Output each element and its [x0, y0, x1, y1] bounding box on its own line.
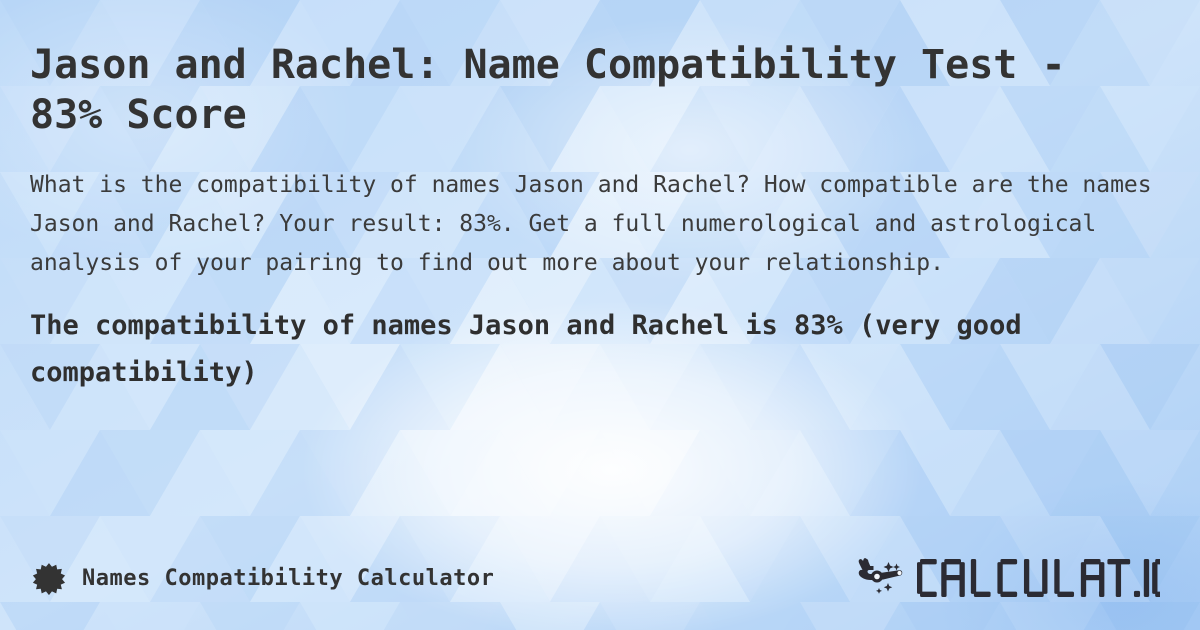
site-logo[interactable] — [857, 556, 1160, 600]
intro-paragraph: What is the compatibility of names Jason… — [30, 166, 1170, 283]
result-statement: The compatibility of names Jason and Rac… — [30, 302, 1170, 396]
hand-magic-wand-icon — [857, 557, 911, 599]
footer-brand: Names Compatibility Calculator — [32, 561, 494, 595]
logo-wordmark — [917, 556, 1160, 600]
page-title: Jason and Rachel: Name Compatibility Tes… — [30, 40, 1140, 140]
starburst-icon — [32, 561, 66, 595]
card-content: Jason and Rachel: Name Compatibility Tes… — [0, 0, 1200, 630]
footer-brand-label: Names Compatibility Calculator — [82, 566, 494, 591]
social-share-card: Jason and Rachel: Name Compatibility Tes… — [0, 0, 1200, 630]
card-footer: Names Compatibility Calculator — [0, 552, 1200, 604]
